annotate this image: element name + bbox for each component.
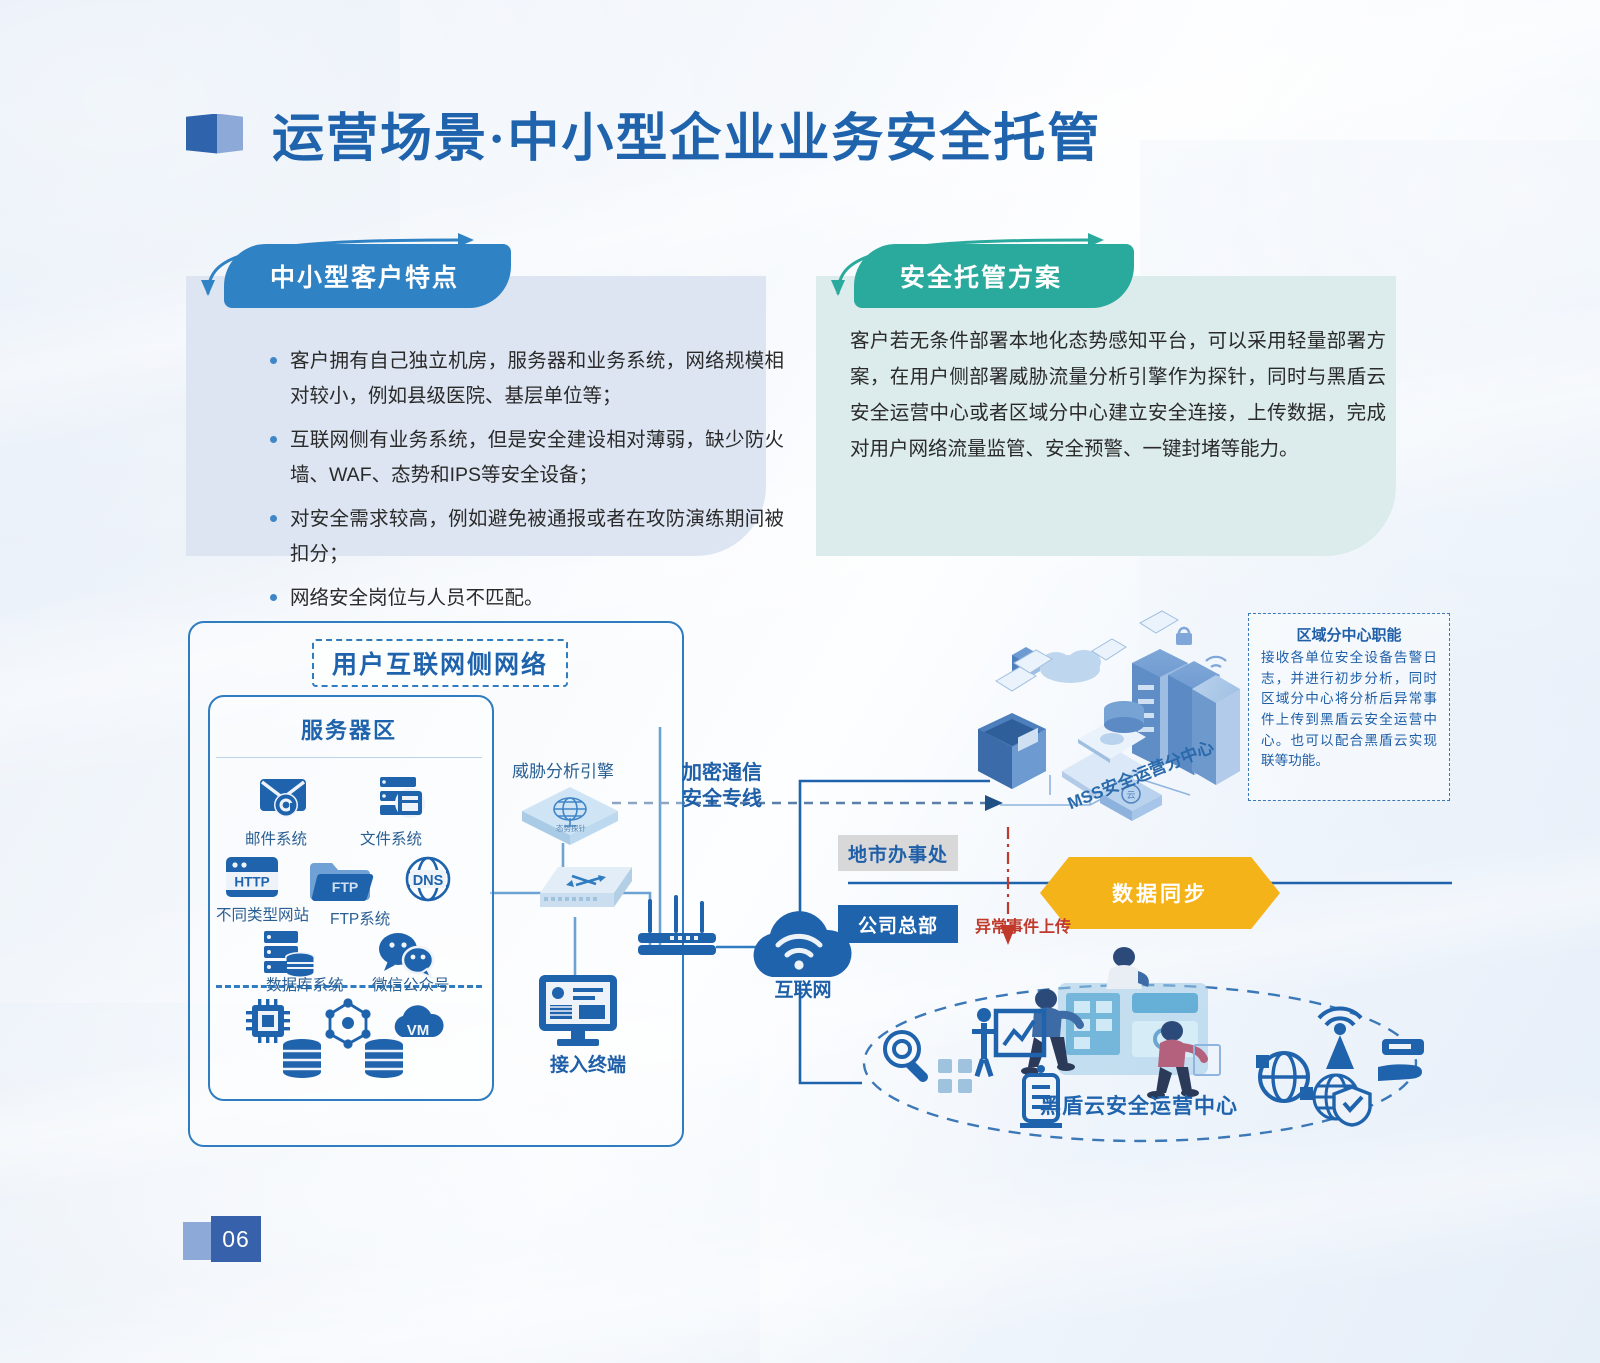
soc-icon-monitor-wrench [885, 1032, 928, 1082]
note-body: 接收各单位安全设备告警日志，并进行初步分析，同时区域分中心将分析后异常事件上传到… [1261, 648, 1437, 772]
server-zone-title: 服务器区 [208, 713, 490, 745]
threat-engine-label: 威胁分析引擎 [512, 757, 614, 782]
http-website-icon: HTTP [226, 857, 278, 897]
user-network-label: 用户互联网侧网络 [312, 639, 568, 687]
regional-center-note: 区域分中心职能 接收各单位安全设备告警日志，并进行初步分析，同时区域分中心将分析… [1248, 613, 1450, 801]
ftp-system-label: FTP系统 [330, 907, 390, 929]
file-system-label: 文件系统 [360, 827, 422, 849]
encrypted-link-label: 加密通信 安全专线 [682, 761, 762, 812]
threat-analysis-engine-icon: 态势探针 [518, 785, 628, 851]
page-title: 运营场景·中小型企业业务安全托管 [186, 96, 1101, 171]
user-network-label-text: 用户互联网侧网络 [332, 645, 548, 681]
panel-heading-left-text: 中小型客户特点 [270, 258, 459, 294]
storage-stack-icon-1 [283, 1039, 321, 1078]
database-system-label: 数据库系统 [266, 973, 344, 995]
virtualization-icons-group: VM [238, 999, 478, 1089]
page-title-text: 运营场景·中小型企业业务安全托管 [272, 96, 1101, 171]
person-top [1106, 947, 1149, 989]
svg-text:DNS: DNS [413, 873, 444, 889]
list-item: 客户拥有自己独立机房，服务器和业务系统，网络规模相对较小，例如县级医院、基层单位… [264, 344, 784, 415]
svg-text:VM: VM [407, 1022, 430, 1039]
title-flag-icon [186, 111, 250, 157]
abnormal-event-upload-label: 异常事件上传 [975, 913, 1071, 937]
encrypted-link-line2: 安全专线 [682, 787, 762, 813]
panel-heading-right: 安全托管方案 [854, 244, 1134, 308]
server-zone-divider [216, 757, 482, 758]
access-terminal-label: 接入终端 [528, 1050, 648, 1077]
soc-icon-broadcast-tower [1319, 1009, 1361, 1069]
page-number: 06 [183, 1216, 273, 1262]
svg-text:HTTP: HTTP [234, 875, 269, 890]
panel-heading-left: 中小型客户特点 [224, 244, 511, 308]
internet-label: 互联网 [757, 975, 849, 1002]
managed-security-solution-panel: 安全托管方案 客户若无条件部署本地化态势感知平台，可以采用轻量部署方案，在用户侧… [816, 236, 1436, 566]
wechat-official-label: 微信公众号 [372, 973, 450, 995]
soc-icon-grid [938, 1059, 972, 1093]
soc-center-label: 黑盾云安全运营中心 [1040, 1090, 1238, 1120]
engine-device-text: 态势探针 [556, 823, 586, 833]
tag-headquarters: 公司总部 [838, 905, 958, 943]
vm-cloud-icon: VM [395, 1005, 444, 1039]
customer-characteristics-list: 客户拥有自己独立机房，服务器和业务系统，网络规模相对较小，例如县级医院、基层单位… [224, 344, 784, 624]
page-number-text: 06 [222, 1226, 250, 1253]
network-switch-icon [528, 863, 648, 927]
ftp-system-icon: FTP [310, 863, 373, 901]
architecture-diagram: 用户互联网侧网络 服务器区 [0, 595, 1600, 1175]
storage-stack-icon-2 [365, 1039, 403, 1078]
dns-icon: DNS [407, 858, 449, 900]
list-item: 对安全需求较高，例如避免被通报或者在攻防演练期间被扣分； [264, 502, 784, 573]
router-icon [636, 895, 736, 965]
http-website-label: 不同类型网站 [216, 903, 309, 925]
cpu-chip-icon [246, 999, 290, 1043]
page-number-badge: 06 [211, 1216, 261, 1262]
soc-icon-hand-service [1378, 1039, 1424, 1081]
encrypted-link-line1: 加密通信 [682, 761, 762, 787]
network-node-icon [325, 998, 370, 1048]
data-sync-label: 数据同步 [1112, 878, 1208, 908]
customer-characteristics-panel: 中小型客户特点 客户拥有自己独立机房，服务器和业务系统，网络规模相对较小，例如县… [186, 236, 806, 566]
access-terminal-icon [533, 973, 643, 1053]
data-sync-badge: 数据同步 [1040, 857, 1280, 929]
solution-paragraph: 客户若无条件部署本地化态势感知平台，可以采用轻量部署方案，在用户侧部署威胁流量分… [850, 324, 1386, 468]
mail-system-label: 邮件系统 [245, 827, 307, 849]
database-system-icon [264, 931, 315, 977]
list-item: 互联网侧有业务系统，但是安全建设相对薄弱，缺少防火墙、WAF、态势和IPS等安全… [264, 423, 784, 494]
file-system-icon [380, 777, 425, 818]
wechat-official-icon [379, 933, 433, 977]
panel-heading-right-text: 安全托管方案 [900, 258, 1062, 294]
svg-text:FTP: FTP [332, 879, 358, 895]
mail-system-icon [260, 779, 306, 817]
tag-city-office: 地市办事处 [838, 835, 958, 871]
soc-icon-global-network [1256, 1053, 1313, 1101]
soc-icon-globe-shield [1314, 1075, 1370, 1125]
note-title: 区域分中心职能 [1261, 624, 1437, 645]
